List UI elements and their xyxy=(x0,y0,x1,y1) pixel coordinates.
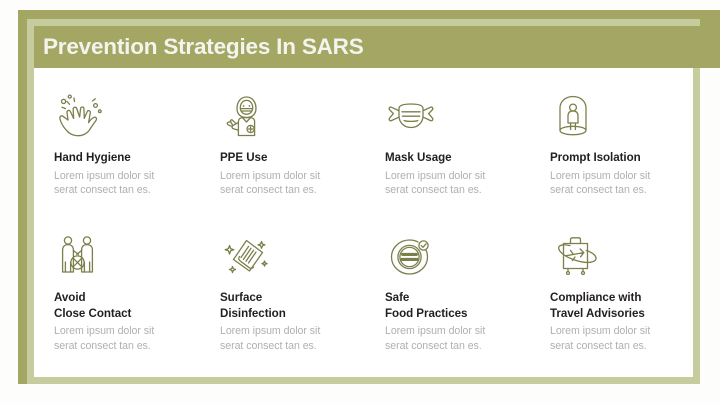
card-title: Compliance with Travel Advisories xyxy=(550,290,716,321)
person-isolation-dome-icon xyxy=(550,92,716,142)
frame-left-olive-strip xyxy=(18,10,27,384)
food-safety-badge-icon xyxy=(385,232,551,282)
slide: Prevention Strategies In SARS xyxy=(0,0,720,405)
card-body: Lorem ipsum dolor sit serat consect tan … xyxy=(54,324,220,353)
card-body: Lorem ipsum dolor sit serat consect tan … xyxy=(54,169,220,198)
card-body: Lorem ipsum dolor sit serat consect tan … xyxy=(550,169,716,198)
hand-washing-icon xyxy=(54,92,220,142)
strategy-card-prompt-isolation[interactable]: Prompt Isolation Lorem ipsum dolor sit s… xyxy=(550,92,716,198)
card-title: Safe Food Practices xyxy=(385,290,551,321)
face-mask-icon xyxy=(385,92,551,142)
card-title: Hand Hygiene xyxy=(54,150,220,166)
card-title: Avoid Close Contact xyxy=(54,290,220,321)
strategy-card-avoid-close-contact[interactable]: Avoid Close Contact Lorem ipsum dolor si… xyxy=(54,232,220,353)
content-panel: Hand Hygiene Lorem ipsum dolor sit serat… xyxy=(34,68,693,377)
page-title: Prevention Strategies In SARS xyxy=(43,34,364,60)
strategy-card-mask-usage[interactable]: Mask Usage Lorem ipsum dolor sit serat c… xyxy=(385,92,551,198)
suitcase-airplane-icon xyxy=(550,232,716,282)
strategy-grid: Hand Hygiene Lorem ipsum dolor sit serat… xyxy=(34,68,693,377)
ppe-worker-icon xyxy=(220,92,386,142)
card-body: Lorem ipsum dolor sit serat consect tan … xyxy=(550,324,716,353)
strategy-card-travel-advisories[interactable]: Compliance with Travel Advisories Lorem … xyxy=(550,232,716,353)
card-body: Lorem ipsum dolor sit serat consect tan … xyxy=(385,169,551,198)
strategy-card-safe-food-practices[interactable]: Safe Food Practices Lorem ipsum dolor si… xyxy=(385,232,551,353)
strategy-card-hand-hygiene[interactable]: Hand Hygiene Lorem ipsum dolor sit serat… xyxy=(54,92,220,198)
card-body: Lorem ipsum dolor sit serat consect tan … xyxy=(220,169,386,198)
slide-header: Prevention Strategies In SARS xyxy=(34,26,720,68)
card-title: Prompt Isolation xyxy=(550,150,716,166)
card-title: Surface Disinfection xyxy=(220,290,386,321)
strategy-card-surface-disinfection[interactable]: Surface Disinfection Lorem ipsum dolor s… xyxy=(220,232,386,353)
surface-wipe-sparkle-icon xyxy=(220,232,386,282)
card-title: Mask Usage xyxy=(385,150,551,166)
strategy-card-ppe-use[interactable]: PPE Use Lorem ipsum dolor sit serat cons… xyxy=(220,92,386,198)
card-body: Lorem ipsum dolor sit serat consect tan … xyxy=(385,324,551,353)
card-body: Lorem ipsum dolor sit serat consect tan … xyxy=(220,324,386,353)
no-close-contact-icon xyxy=(54,232,220,282)
card-title: PPE Use xyxy=(220,150,386,166)
